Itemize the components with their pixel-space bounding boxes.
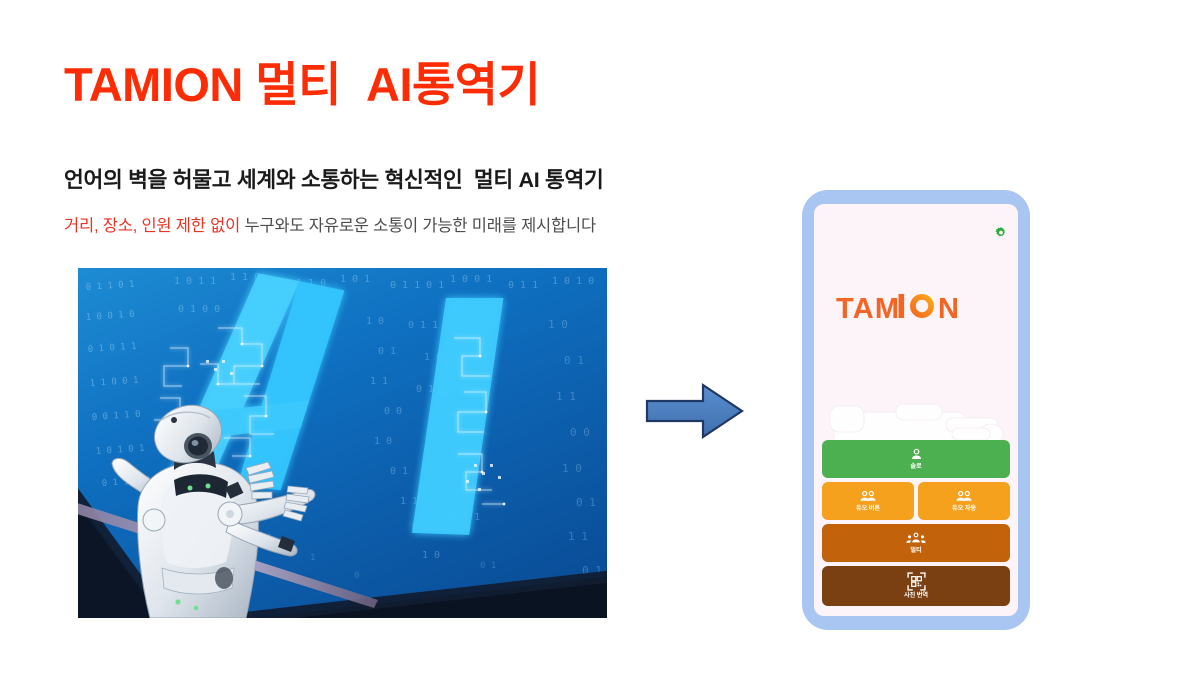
svg-text:0 1: 0 1 [378,346,396,357]
svg-text:0 0: 0 0 [570,426,590,439]
ai-robot-illustration: 0 1 1 0 1 1 0 0 1 0 0 1 0 1 1 1 1 0 0 1 … [78,268,607,618]
button-solo[interactable]: 솔로 [822,440,1010,478]
svg-text:0 1 1: 0 1 1 [408,320,438,331]
svg-text:0 1: 0 1 [576,496,596,509]
description-text: 거리, 장소, 인원 제한 없이 누구와도 자유로운 소통이 가능한 미래를 제… [64,212,596,236]
app-logo: TAM N [814,290,1018,328]
svg-text:0 1 1 0 1: 0 1 1 0 1 [390,280,444,291]
button-photo-translate[interactable]: 사진 번역 [822,566,1010,606]
subtitle-text: 언어의 벽을 허물고 세계와 소통하는 혁신적인 멀티 AI 통역기 [64,163,603,194]
svg-text:0 1: 0 1 [390,466,408,477]
svg-text:TAM: TAM [836,293,900,325]
svg-text:1 0: 1 0 [548,318,568,331]
svg-text:0 1 1: 0 1 1 [508,280,538,291]
right-arrow [645,382,745,440]
svg-text:1 0: 1 0 [374,436,392,447]
scan-frame-icon [907,572,926,591]
svg-text:0 1 0 0: 0 1 0 0 [178,304,220,315]
svg-text:1 0 1: 1 0 1 [340,274,370,285]
button-duo-manual[interactable]: 듀오 버튼 [822,482,914,520]
phone-mockup: TAM N [802,190,1030,630]
ai-robot-photo: 0 1 1 0 1 1 0 0 1 0 0 1 0 1 1 1 1 0 0 1 … [78,268,607,618]
right-arrow-icon [645,382,745,440]
two-people-icon [859,489,877,504]
svg-text:1 0 1 1: 1 0 1 1 [174,276,216,287]
group-people-icon [906,531,926,546]
svg-text:1 1: 1 1 [556,390,576,403]
button-duo-auto[interactable]: 듀오 자동 [918,482,1010,520]
svg-text:1 1: 1 1 [370,376,388,387]
svg-text:1 1: 1 1 [568,530,588,543]
svg-text:1 0 0 1: 1 0 0 1 [450,274,492,285]
button-multi[interactable]: 멀티 [822,524,1010,562]
description-normal: 누구와도 자유로운 소통이 가능한 미래를 제시합니다 [240,217,596,235]
svg-text:N: N [938,293,960,325]
svg-text:1 0: 1 0 [422,550,440,561]
phone-screen: TAM N [814,204,1018,616]
duo-button-row: 듀오 버튼 듀오 자동 [822,482,1010,520]
svg-text:0 0: 0 0 [384,406,402,417]
single-person-icon [909,447,924,462]
tamion-wordmark-icon: TAM N [836,290,996,328]
button-photo-translate-label: 사진 번역 [904,593,928,599]
svg-text:1: 1 [310,553,315,563]
page-title: TAMION 멀티 AI통역기 [64,58,540,112]
button-multi-label: 멀티 [910,548,921,554]
svg-text:0 1: 0 1 [480,561,496,571]
button-solo-label: 솔로 [910,464,921,470]
description-accent: 거리, 장소, 인원 제한 없이 [64,217,240,235]
action-button-stack: 솔로 듀오 버튼 [822,440,1010,606]
svg-text:1 1: 1 1 [400,496,418,507]
svg-text:1 0: 1 0 [366,316,384,327]
gear-icon[interactable] [994,226,1008,240]
svg-text:1 0 1 0: 1 0 1 0 [552,276,594,287]
svg-text:0: 0 [354,571,359,581]
svg-text:0 1: 0 1 [564,354,584,367]
slide-canvas: TAMION 멀티 AI통역기 언어의 벽을 허물고 세계와 소통하는 혁신적인… [0,0,1200,675]
svg-text:1 0: 1 0 [562,462,582,475]
two-people-icon [955,489,973,504]
button-duo-auto-label: 듀오 자동 [952,506,976,512]
button-duo-manual-label: 듀오 버튼 [856,506,880,512]
